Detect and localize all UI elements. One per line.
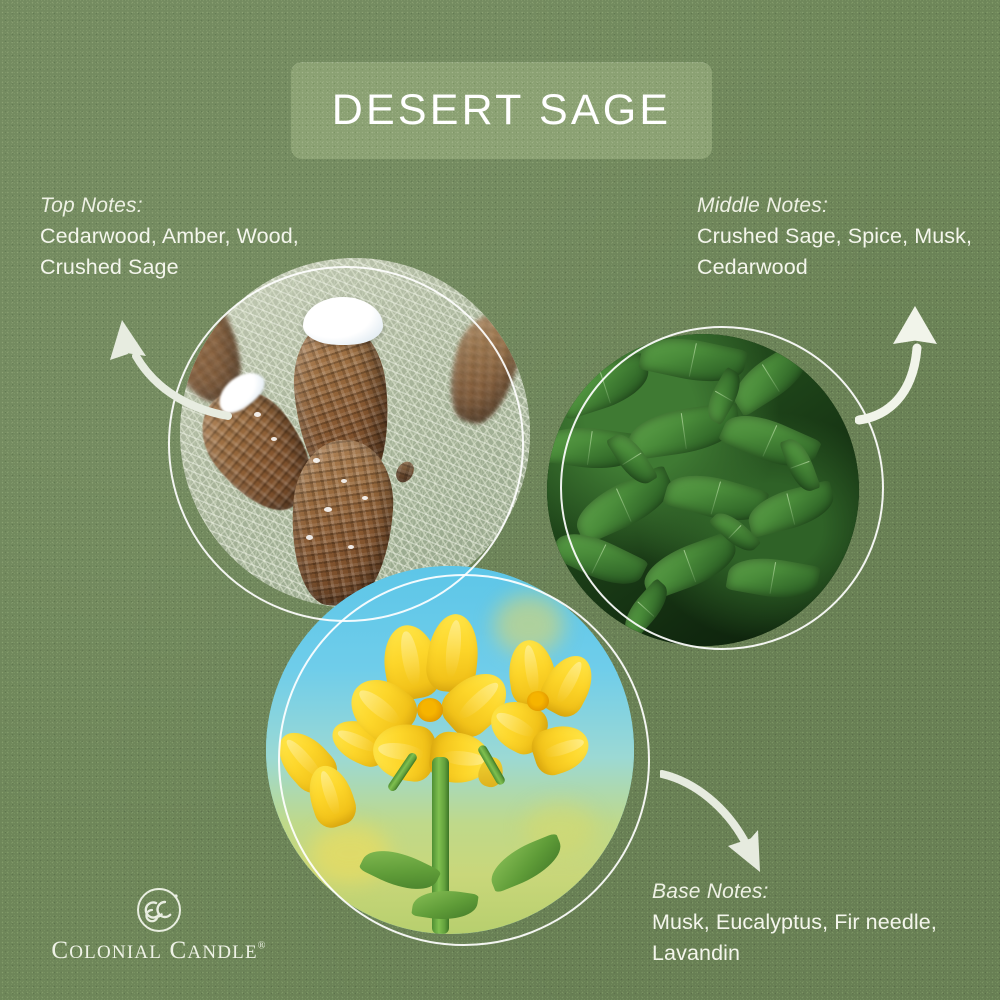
arrow-curved-up-right-icon	[855, 300, 985, 425]
middle-notes-label: Middle Notes:	[697, 192, 997, 219]
flower-image	[266, 566, 634, 934]
middle-notes-block: Middle Notes: Crushed Sage, Spice, Musk,…	[697, 192, 997, 282]
base-notes-block: Base Notes: Musk, Eucalyptus, Fir needle…	[652, 878, 992, 968]
brand-name-c1: C	[51, 937, 69, 964]
page-title: DESERT SAGE	[332, 86, 672, 135]
brand-name: COLONIAL CANDLE®	[51, 938, 266, 963]
middle-notes-value: Crushed Sage, Spice, Musk, Cedarwood	[697, 221, 997, 282]
cc-monogram-icon	[135, 886, 183, 934]
base-notes-label: Base Notes:	[652, 878, 992, 905]
infographic-canvas: DESERT SAGE Top Notes: Cedarwood, Amber,…	[0, 0, 1000, 1000]
title-banner: DESERT SAGE	[291, 62, 712, 159]
brand-name-rest1: OLONIAL	[69, 942, 162, 963]
brand-logo: COLONIAL CANDLE®	[36, 886, 282, 978]
brand-name-rest2: ANDLE	[187, 942, 257, 963]
pinecone-image	[180, 258, 530, 608]
brand-name-c2: C	[170, 937, 188, 964]
arrow-curved-down-right-icon	[660, 768, 805, 883]
registered-mark: ®	[258, 941, 267, 952]
top-notes-label: Top Notes:	[40, 192, 370, 219]
base-notes-value: Musk, Eucalyptus, Fir needle, Lavandin	[652, 907, 992, 968]
